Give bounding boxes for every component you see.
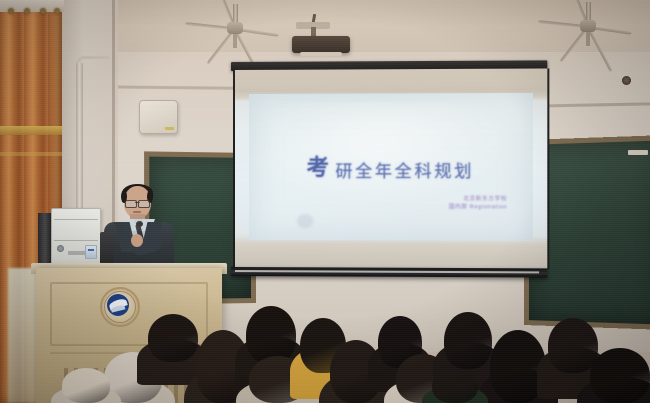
audience-member-head	[548, 318, 598, 373]
audience-member-head	[444, 312, 492, 369]
slide-title-rest: 研全年全科规划	[335, 162, 474, 182]
glasses-icon	[125, 200, 150, 206]
audience-member-head	[590, 348, 650, 403]
curtain-ring	[54, 8, 60, 14]
curtain-band-secondary	[0, 152, 62, 156]
projector-lens	[622, 76, 631, 85]
ceiling-fan-right	[528, 2, 648, 52]
equipment-badge	[85, 245, 97, 259]
computer-tower	[38, 213, 52, 269]
lecture-hall-photo: 考研全年全科规划 北京新东方学校 国内部 Registration	[0, 0, 650, 403]
slide-subtitle: 北京新东方学校 国内部 Registration	[449, 195, 507, 211]
projected-slide: 考研全年全科规划 北京新东方学校 国内部 Registration	[249, 93, 533, 241]
equipment-label	[68, 251, 86, 255]
glasses-lens-right	[138, 200, 150, 208]
curtain-ring	[40, 8, 46, 14]
fan-hub	[580, 20, 596, 32]
emblem-field	[107, 294, 129, 316]
slide-subtitle-line1: 北京新东方学校	[449, 195, 507, 203]
ceiling-projector	[292, 36, 350, 53]
chalk-tray	[628, 150, 648, 155]
audience-member-head	[432, 368, 478, 403]
speaker-led	[165, 127, 174, 130]
audience-member-head	[148, 314, 198, 362]
slide-watermark	[297, 214, 313, 228]
av-control-box	[51, 208, 101, 271]
fan-downrod	[586, 32, 590, 46]
curtain-ring	[8, 8, 14, 14]
projector-base	[300, 52, 342, 56]
projection-screen: 考研全年全科规划 北京新东方学校 国内部 Registration	[231, 60, 547, 285]
presenter-mouth	[133, 211, 141, 213]
presenter-hand	[131, 234, 143, 247]
slide-title: 考研全年全科规划	[249, 152, 533, 184]
wall-pipe	[76, 62, 83, 212]
curtain-band	[0, 126, 62, 135]
fan-hub	[227, 22, 243, 34]
curtain-ring	[24, 8, 30, 14]
audience-member-head	[246, 306, 296, 364]
equipment-knob	[57, 245, 64, 252]
equipment-seam	[54, 219, 98, 220]
equipment-seam	[54, 240, 98, 241]
ceiling-fan-left	[175, 4, 295, 54]
fan-downrod	[233, 34, 237, 48]
slide-title-accent: 考	[307, 150, 332, 182]
school-emblem	[100, 287, 140, 327]
slide-subtitle-line2: 国内部 Registration	[449, 203, 507, 211]
screen-surface: 考研全年全科规划 北京新东方学校 国内部 Registration	[233, 68, 549, 269]
microphone-head	[136, 221, 143, 227]
wall-mounted-speaker	[139, 100, 178, 134]
audience-member-head	[62, 368, 110, 403]
